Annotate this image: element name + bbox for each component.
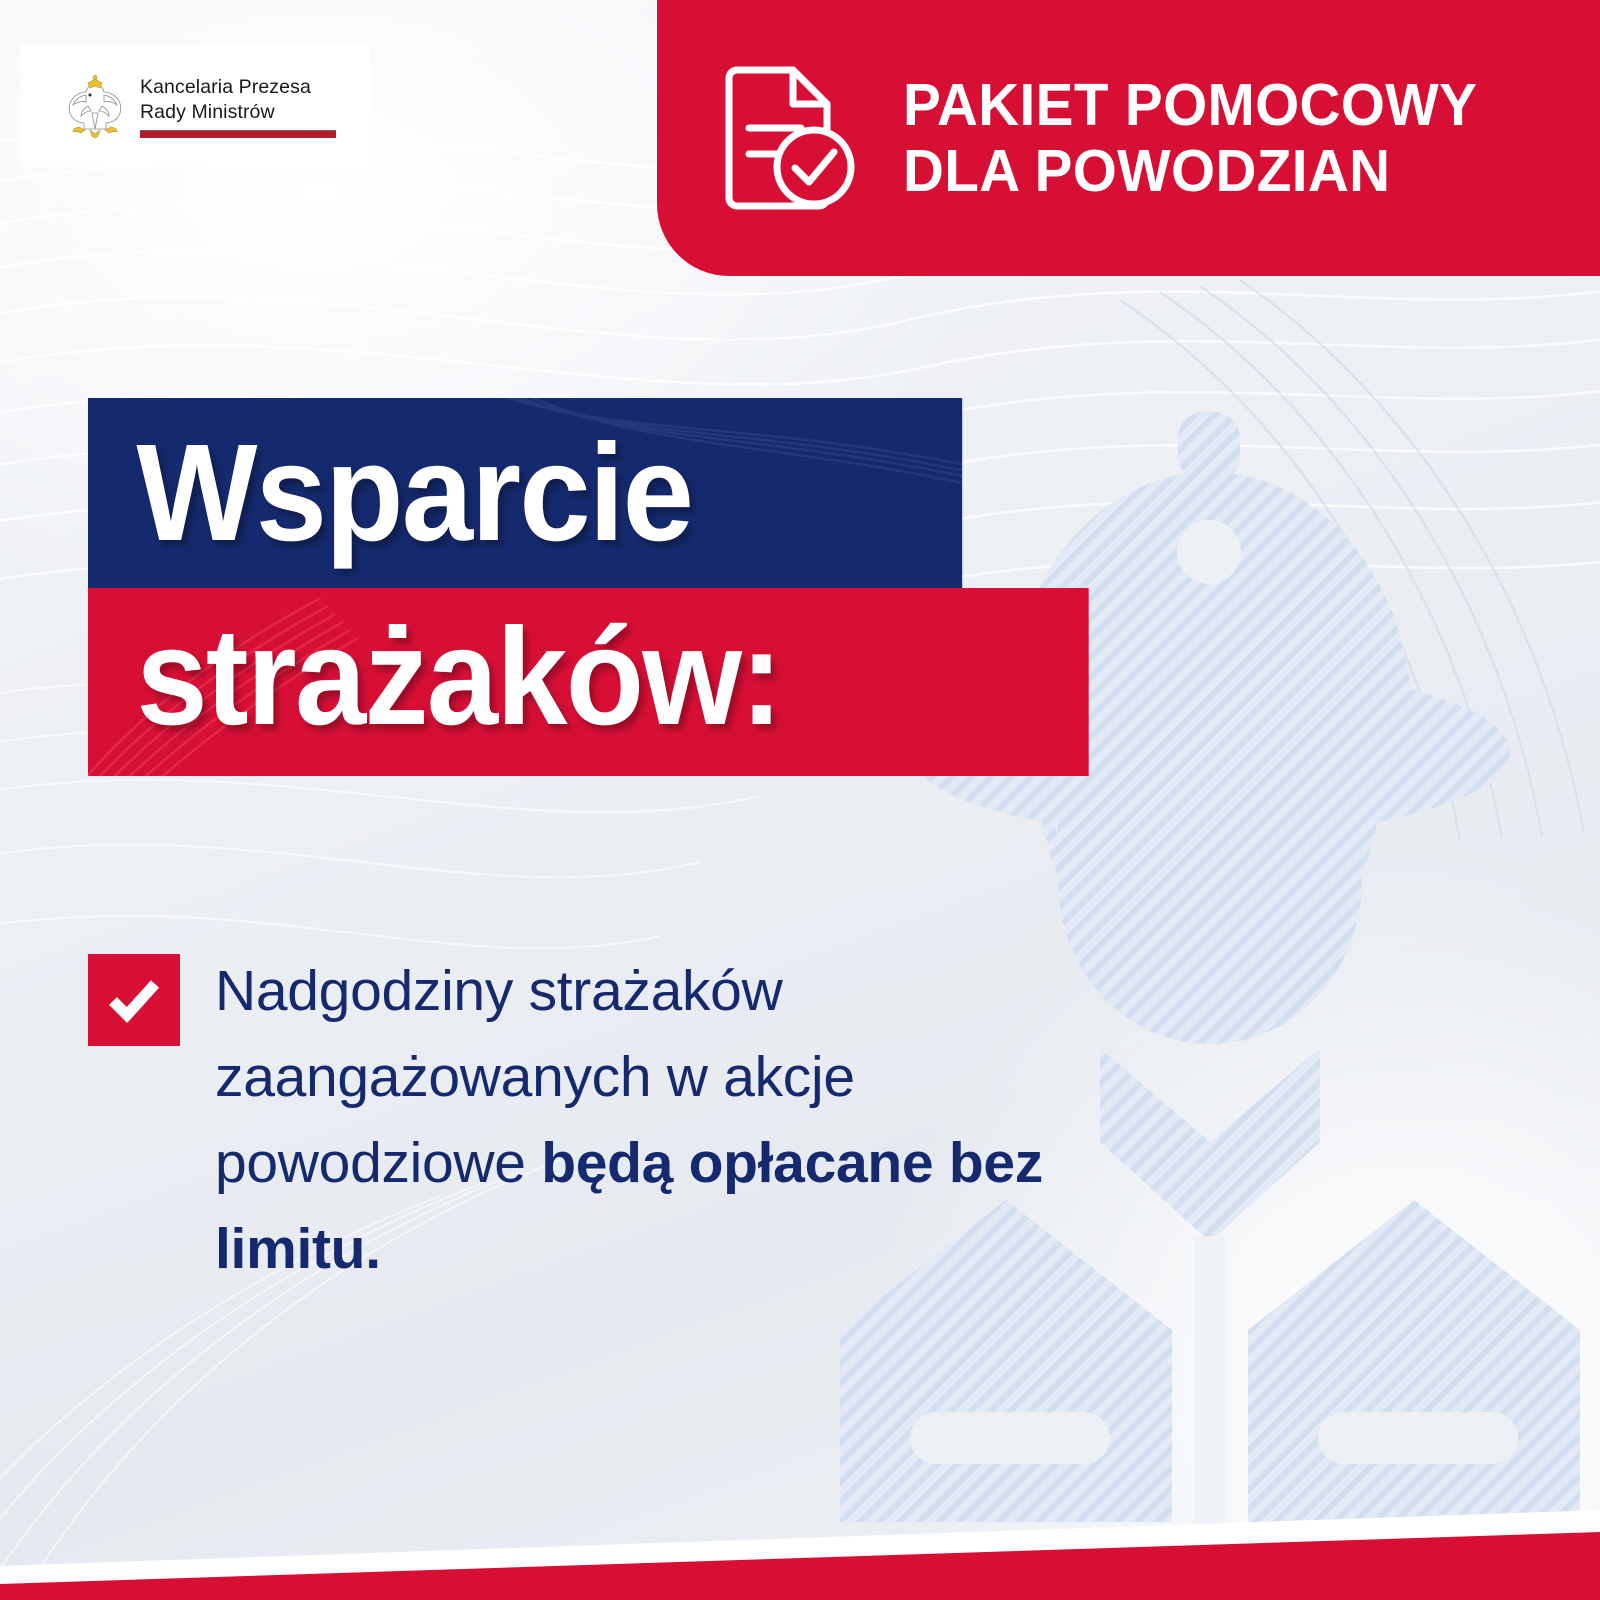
headline-line-2: strażaków: xyxy=(136,600,781,754)
logo-line-2: Rady Ministrów xyxy=(140,100,336,125)
headline-line-1-block: Wsparcie xyxy=(88,398,962,588)
logo-line-1: Kancelaria Prezesa xyxy=(140,75,336,100)
headline-line-1: Wsparcie xyxy=(136,416,692,570)
document-check-icon xyxy=(715,62,855,214)
government-logo: Kancelaria Prezesa Rady Ministrów xyxy=(20,45,370,167)
polish-eagle-emblem-icon xyxy=(64,73,126,139)
banner-title: PAKIET POMOCOWY DLA POWODZIAN xyxy=(903,72,1477,204)
headline-line-2-block: strażaków: xyxy=(88,588,1089,776)
poster-canvas: Kancelaria Prezesa Rady Ministrów PAKIET… xyxy=(0,0,1600,1600)
page-title: Wsparcie strażaków: xyxy=(88,398,1164,776)
list-item: Nadgodziny strażaków zaangażowanych w ak… xyxy=(88,948,1208,1292)
logo-text-block: Kancelaria Prezesa Rady Ministrów xyxy=(140,75,336,138)
banner-title-line-1: PAKIET POMOCOWY xyxy=(903,72,1477,138)
bullet-text: Nadgodziny strażaków zaangażowanych w ak… xyxy=(215,948,1175,1292)
banner-title-line-2: DLA POWODZIAN xyxy=(903,138,1477,204)
bottom-red-stripe xyxy=(0,1480,1600,1600)
check-icon xyxy=(88,954,180,1046)
header-banner: PAKIET POMOCOWY DLA POWODZIAN xyxy=(657,0,1600,276)
logo-red-rule xyxy=(140,130,336,138)
